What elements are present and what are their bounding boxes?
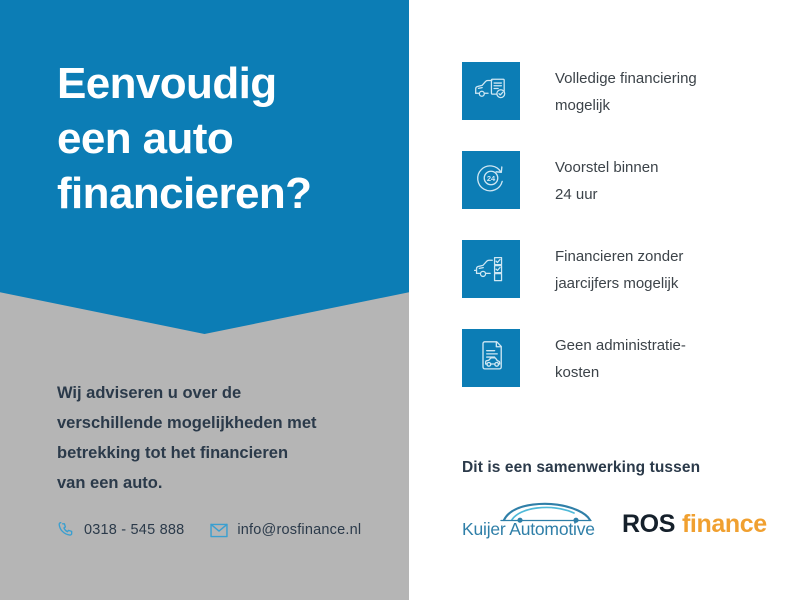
clock-24-hour-icon: 24 — [475, 162, 507, 199]
feature-icon-box — [462, 240, 520, 298]
kuijer-automotive-text: Kuijer Automotive — [462, 519, 595, 540]
page-title: Eenvoudig een auto financieren? — [57, 56, 387, 221]
feature-list: Volledige financiering mogelijk 24 — [462, 62, 765, 387]
feature-line-1: Financieren zonder — [555, 243, 765, 270]
headline-line-3: financieren? — [57, 166, 387, 221]
svg-text:24: 24 — [487, 174, 496, 183]
intro-line-2: verschillende mogelijkheden met — [57, 408, 387, 438]
headline-line-1: Eenvoudig — [57, 56, 387, 111]
ros-finance-logo[interactable]: ROSfinance — [622, 510, 767, 541]
feature-icon-box — [462, 62, 520, 120]
phone-icon — [57, 521, 75, 539]
feature-line-2: 24 uur — [555, 181, 765, 208]
feature-label: Financieren zonder jaarcijfers mogelijk — [555, 240, 765, 298]
car-document-icon — [474, 74, 508, 109]
feature-line-2: kosten — [555, 359, 765, 386]
intro-line-3: betrekking tot het financieren — [57, 438, 387, 468]
right-panel: Volledige financiering mogelijk 24 — [409, 0, 800, 600]
feature-item-geen-administratiekosten: Geen administratie- kosten — [462, 329, 765, 387]
envelope-icon — [210, 521, 228, 539]
finance-wordmark: finance — [682, 510, 767, 538]
headline-line-2: een auto — [57, 111, 387, 166]
phone-number: 0318 - 545 888 — [84, 522, 184, 538]
feature-item-volledige-financiering: Volledige financiering mogelijk — [462, 62, 765, 120]
feature-icon-box: 24 — [462, 151, 520, 209]
poster-canvas: Eenvoudig een auto financieren? Wij advi… — [0, 0, 800, 600]
intro-paragraph: Wij adviseren u over de verschillende mo… — [57, 378, 387, 498]
feature-line-1: Voorstel binnen — [555, 154, 765, 181]
partner-logo-row: Kuijer Automotive ROSfinance — [462, 501, 782, 541]
kuijer-automotive-logo[interactable]: Kuijer Automotive — [462, 501, 600, 541]
ros-wordmark: ROS — [622, 510, 675, 538]
document-car-icon — [477, 340, 505, 377]
feature-line-1: Geen administratie- — [555, 332, 765, 359]
intro-line-1: Wij adviseren u over de — [57, 378, 387, 408]
partners-title: Dit is een samenwerking tussen — [462, 459, 782, 477]
feature-line-1: Volledige financiering — [555, 65, 765, 92]
contact-phone[interactable]: 0318 - 545 888 — [57, 521, 184, 539]
feature-line-2: mogelijk — [555, 92, 765, 119]
left-panel: Eenvoudig een auto financieren? Wij advi… — [0, 0, 409, 600]
car-checklist-icon — [474, 252, 508, 287]
intro-line-4: van een auto. — [57, 468, 387, 498]
contact-email[interactable]: info@rosfinance.nl — [210, 521, 361, 539]
contact-row: 0318 - 545 888 info@rosfinance.nl — [57, 521, 387, 539]
feature-label: Geen administratie- kosten — [555, 329, 765, 387]
feature-item-financieren-zonder-jaarcijfers: Financieren zonder jaarcijfers mogelijk — [462, 240, 765, 298]
feature-label: Voorstel binnen 24 uur — [555, 151, 765, 209]
feature-label: Volledige financiering mogelijk — [555, 62, 765, 120]
feature-item-voorstel-binnen-24-uur: 24 Voorstel binnen 24 uur — [462, 151, 765, 209]
email-address: info@rosfinance.nl — [237, 522, 361, 538]
feature-line-2: jaarcijfers mogelijk — [555, 270, 765, 297]
feature-icon-box — [462, 329, 520, 387]
partners-section: Dit is een samenwerking tussen Kuijer Au… — [462, 459, 782, 541]
